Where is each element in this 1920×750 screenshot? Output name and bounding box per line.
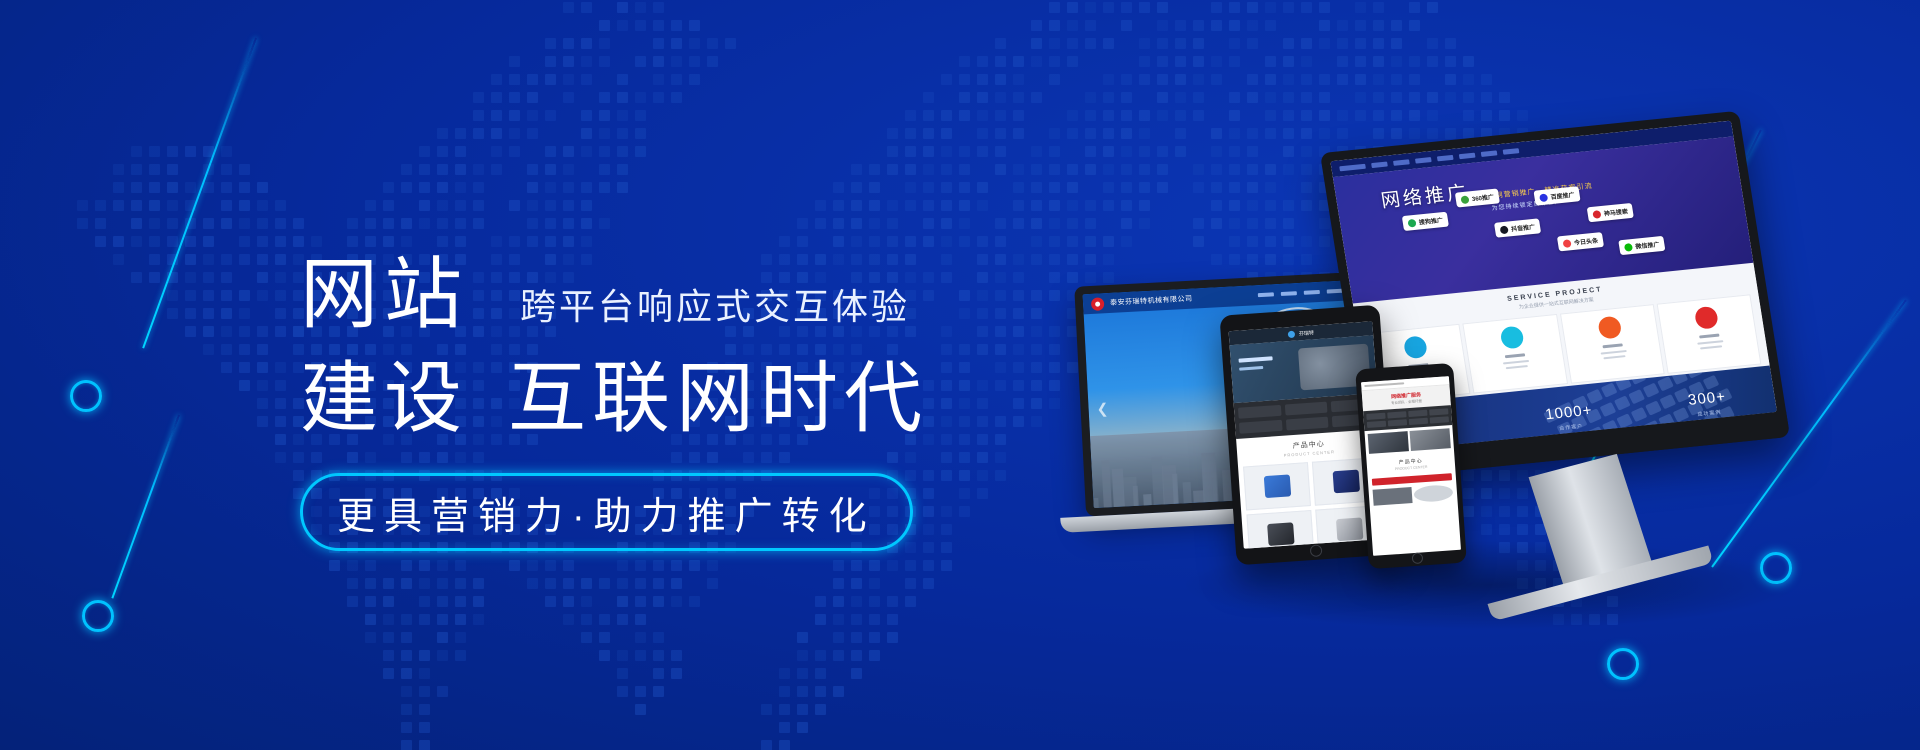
headline-row-2: 建设互联网时代 — [300, 359, 1080, 437]
headline-line-2: 建设互联网时代 — [300, 359, 1080, 437]
nav-item — [1304, 290, 1320, 295]
badge-label: 今日头条 — [1573, 236, 1598, 247]
badge-logo-icon — [1624, 243, 1633, 252]
phone-mockup: 网络推广服务 专业团队 · 全程托管 产品中心 PRODUCT C — [1355, 363, 1467, 569]
hero-banner: 网站 跨平台响应式交互体验 建设互联网时代 更具营销力·助力推广转化 泰安芬瑞特… — [0, 0, 1920, 750]
nav-item — [1409, 418, 1428, 425]
menu-item — [1239, 420, 1282, 434]
url-text — [1364, 382, 1404, 387]
badge-label: 360推广 — [1471, 192, 1494, 203]
carousel-prev-arrow-icon: ❮ — [1096, 400, 1109, 418]
hero-copy: 网站 跨平台响应式交互体验 建设互联网时代 更具营销力·助力推广转化 — [300, 255, 1080, 551]
service-icon — [1403, 335, 1428, 359]
service-icon — [1597, 316, 1622, 340]
service-card-text — [1700, 345, 1722, 349]
stat-value: 300+ — [1687, 388, 1727, 409]
hero-subtitle: 跨平台响应式交互体验 — [520, 289, 910, 333]
nav-item — [1387, 411, 1406, 418]
service-card — [1463, 314, 1568, 394]
badge-label: 神马搜索 — [1603, 206, 1628, 217]
service-icon — [1694, 306, 1719, 330]
device-mockup-group: 泰安芬瑞特机械有限公司 ❮ 芬瑞特机械 — [1080, 120, 1920, 640]
badge-logo-icon — [1407, 218, 1416, 227]
menu-item — [1286, 417, 1329, 431]
service-card-text — [1600, 350, 1626, 355]
nav-item — [1393, 159, 1410, 166]
nav-item — [1503, 148, 1520, 155]
service-card-text — [1603, 355, 1625, 359]
promo-badge: 微信推广 — [1618, 236, 1665, 255]
thumbnail — [1373, 487, 1413, 506]
badge-logo-icon — [1539, 193, 1548, 202]
nav-logo — [1339, 163, 1366, 171]
service-card-title — [1505, 353, 1525, 358]
headline-line-1: 网站 — [300, 255, 468, 333]
stat-item: 300+成功案例 — [1687, 388, 1729, 418]
laptop-site-name: 泰安芬瑞特机械有限公司 — [1110, 294, 1193, 308]
tablet-brand: 芬瑞特 — [1299, 329, 1314, 337]
tablet-hero-line-2 — [1239, 366, 1263, 371]
service-card — [1559, 304, 1664, 384]
badge-logo-icon — [1592, 210, 1601, 219]
nav-item — [1371, 161, 1388, 168]
headline-line-2-part2: 互联网时代 — [508, 354, 928, 442]
service-card-title — [1602, 343, 1622, 348]
badge-label: 百度推广 — [1550, 190, 1575, 201]
nav-item — [1459, 152, 1476, 159]
tagline-pill: 更具营销力·助力推广转化 — [300, 473, 913, 551]
promo-badge: 搜狗推广 — [1402, 212, 1449, 231]
promo-badge: 抖音推广 — [1494, 218, 1541, 237]
tablet-hero-line-1 — [1239, 356, 1273, 362]
badge-logo-icon — [1460, 195, 1469, 204]
phone-bottom-grid — [1368, 482, 1457, 508]
nav-item — [1481, 150, 1498, 157]
badge-logo-icon — [1500, 225, 1509, 234]
badge-logo-icon — [1562, 239, 1571, 248]
tablet-logo-icon — [1288, 330, 1295, 337]
tagline-text: 更具营销力·助力推广转化 — [337, 485, 876, 540]
nav-item — [1408, 410, 1427, 417]
nav-item — [1388, 419, 1407, 426]
promo-badge: 今日头条 — [1557, 232, 1604, 251]
nav-item — [1415, 157, 1432, 164]
phone-bezel: 网络推广服务 专业团队 · 全程托管 产品中心 PRODUCT C — [1355, 363, 1467, 569]
laptop-site-logo-icon — [1091, 297, 1105, 311]
stat-value: 1000+ — [1544, 401, 1594, 423]
phone-promo-sub: 专业团队 · 全程托管 — [1391, 399, 1422, 406]
nav-item — [1437, 154, 1454, 161]
nav-item — [1281, 291, 1297, 296]
menu-item — [1238, 405, 1281, 419]
tablet-section-title-text: 产品中心 — [1293, 441, 1325, 450]
service-card-text — [1503, 360, 1529, 365]
service-card — [1656, 294, 1761, 374]
product-tile — [1243, 462, 1311, 510]
thumbnail — [1410, 428, 1451, 451]
nav-item — [1366, 413, 1385, 420]
service-icon — [1500, 325, 1525, 349]
service-card-title — [1699, 334, 1719, 339]
nav-item — [1258, 292, 1274, 297]
thumbnail — [1368, 431, 1409, 454]
stat-item: 1000+合作客户 — [1544, 401, 1595, 432]
menu-item — [1284, 402, 1327, 416]
badge-label: 抖音推广 — [1510, 222, 1535, 233]
promo-badge: 神马搜索 — [1587, 203, 1634, 222]
nav-item — [1430, 416, 1449, 423]
thumbnail — [1413, 484, 1453, 503]
phone-screen: 网络推广服务 专业团队 · 全程托管 产品中心 PRODUCT C — [1361, 376, 1461, 556]
service-card-text — [1506, 365, 1528, 369]
promo-badge: 百度推广 — [1533, 186, 1580, 205]
badge-label: 搜狗推广 — [1418, 215, 1443, 226]
headline-row-1: 网站 跨平台响应式交互体验 — [300, 255, 1080, 333]
nav-item — [1429, 408, 1448, 415]
nav-item — [1327, 289, 1343, 294]
badge-label: 微信推广 — [1635, 239, 1660, 250]
headline-line-2-part1: 建设 — [300, 354, 468, 442]
product-tile — [1246, 510, 1314, 549]
service-card-text — [1697, 340, 1723, 345]
nav-item — [1367, 421, 1386, 428]
